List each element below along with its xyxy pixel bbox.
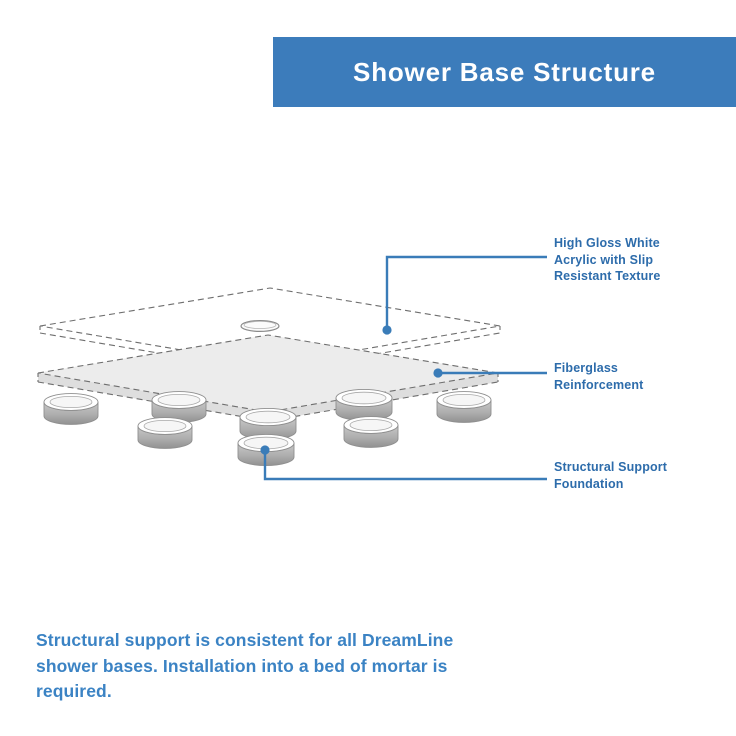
leader-dot-fiberglass [433, 368, 442, 377]
leader-dot-acrylic [382, 325, 391, 334]
support-ring [336, 389, 392, 420]
fiberglass-top-face [38, 335, 498, 412]
leader-dot-support [260, 445, 269, 454]
support-ring [437, 392, 491, 423]
leader-line-support [265, 450, 547, 479]
support-ring [138, 418, 192, 449]
support-ring [344, 417, 398, 448]
drain-opening-icon [241, 321, 279, 332]
support-ring [44, 394, 98, 425]
page-root: Shower Base Structure [0, 0, 736, 736]
bottom-caption: Structural support is consistent for all… [36, 628, 506, 705]
callout-label-acrylic: High Gloss White Acrylic with Slip Resis… [554, 235, 730, 285]
callout-label-support: Structural Support Foundation [554, 459, 730, 492]
callout-label-fiberglass: Fiberglass Reinforcement [554, 360, 730, 393]
leader-line-acrylic [387, 257, 547, 330]
